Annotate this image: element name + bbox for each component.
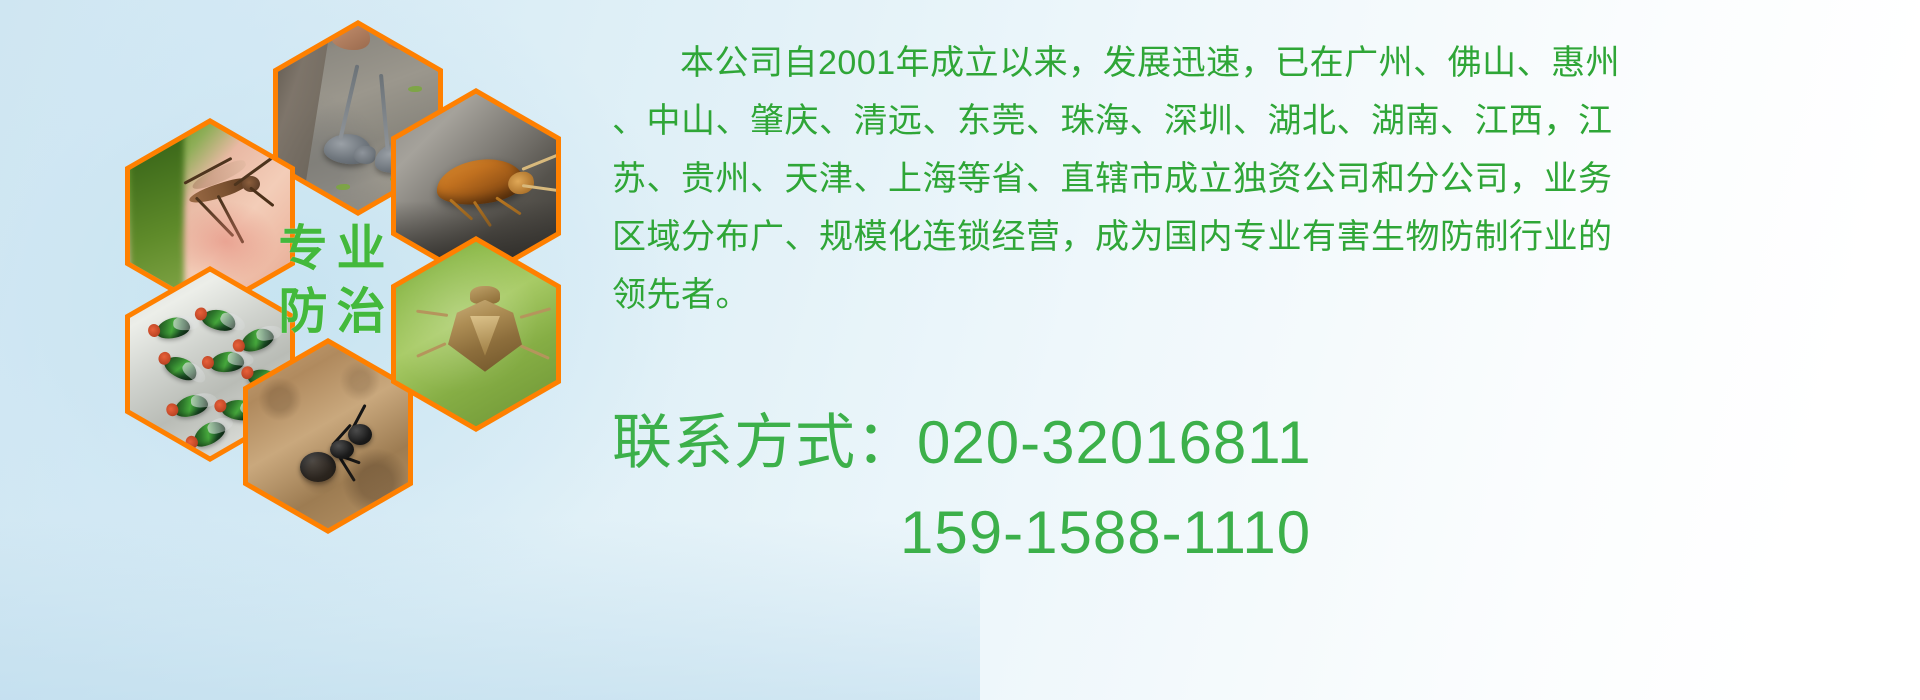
leaf-speck xyxy=(408,86,422,92)
hand-shape xyxy=(330,26,370,50)
contact-block: 联系方式：020-32016811 159-1588-1110 xyxy=(612,398,1312,578)
fly-shape xyxy=(209,350,245,373)
rat-head xyxy=(353,144,377,164)
intro-line: 本公司自2001年成立以来，发展迅速，已在广州、佛山、惠州 xyxy=(612,34,1902,92)
fly-shape xyxy=(172,391,210,420)
cockroach-leg xyxy=(473,200,492,227)
bug-leg xyxy=(519,344,549,360)
honeycomb-photo-cluster: 专业 防治 xyxy=(95,8,595,568)
intro-line: 领先者。 xyxy=(612,266,1902,324)
fly-shape xyxy=(189,417,228,451)
ant-leg xyxy=(339,456,356,481)
ant-leg xyxy=(331,423,352,446)
ant-head xyxy=(348,424,372,445)
mosquito-leg xyxy=(217,194,245,243)
slogan-line-2: 防治 xyxy=(269,288,394,337)
bug-leg xyxy=(520,307,552,319)
slogan-line-1: 专业 xyxy=(269,225,394,274)
fly-shape xyxy=(200,306,238,334)
contact-phone-primary[interactable]: 联系方式：020-32016811 xyxy=(612,398,1312,488)
company-intro-paragraph: 本公司自2001年成立以来，发展迅速，已在广州、佛山、惠州 、中山、肇庆、清远、… xyxy=(612,34,1902,324)
rat-shape xyxy=(323,131,374,166)
cockroach-leg xyxy=(495,196,522,215)
center-slogan-hexagon: 专业 防治 xyxy=(243,178,421,383)
intro-line: 区域分布广、规模化连锁经营，成为国内专业有害生物防制行业的 xyxy=(612,208,1902,266)
contact-phone-secondary[interactable]: 159-1588-1110 xyxy=(612,488,1312,578)
pest-control-banner: 专业 防治 本公司自2001年成立以来，发展迅速，已在广州、佛山、惠州 、中山、… xyxy=(0,0,1920,700)
cockroach-antenna xyxy=(521,150,556,171)
fly-shape xyxy=(161,351,200,384)
rat-tail xyxy=(338,64,359,139)
intro-line: 苏、贵州、天津、上海等省、直辖市成立独资公司和分公司，业务 xyxy=(612,150,1902,208)
fly-shape xyxy=(154,314,191,341)
rat-tail xyxy=(379,74,390,150)
ant-leg xyxy=(334,452,361,464)
hand-shape xyxy=(382,26,422,50)
cockroach-leg xyxy=(449,198,473,220)
ant-thorax xyxy=(330,440,354,459)
ant-abdomen xyxy=(300,452,336,482)
ant-leg xyxy=(351,404,366,430)
company-intro-block: 本公司自2001年成立以来，发展迅速，已在广州、佛山、惠州 、中山、肇庆、清远、… xyxy=(612,34,1902,324)
mosquito-leg xyxy=(195,196,234,237)
intro-line: 、中山、肇庆、清远、东莞、珠海、深圳、湖北、湖南、江西，江 xyxy=(612,92,1902,150)
